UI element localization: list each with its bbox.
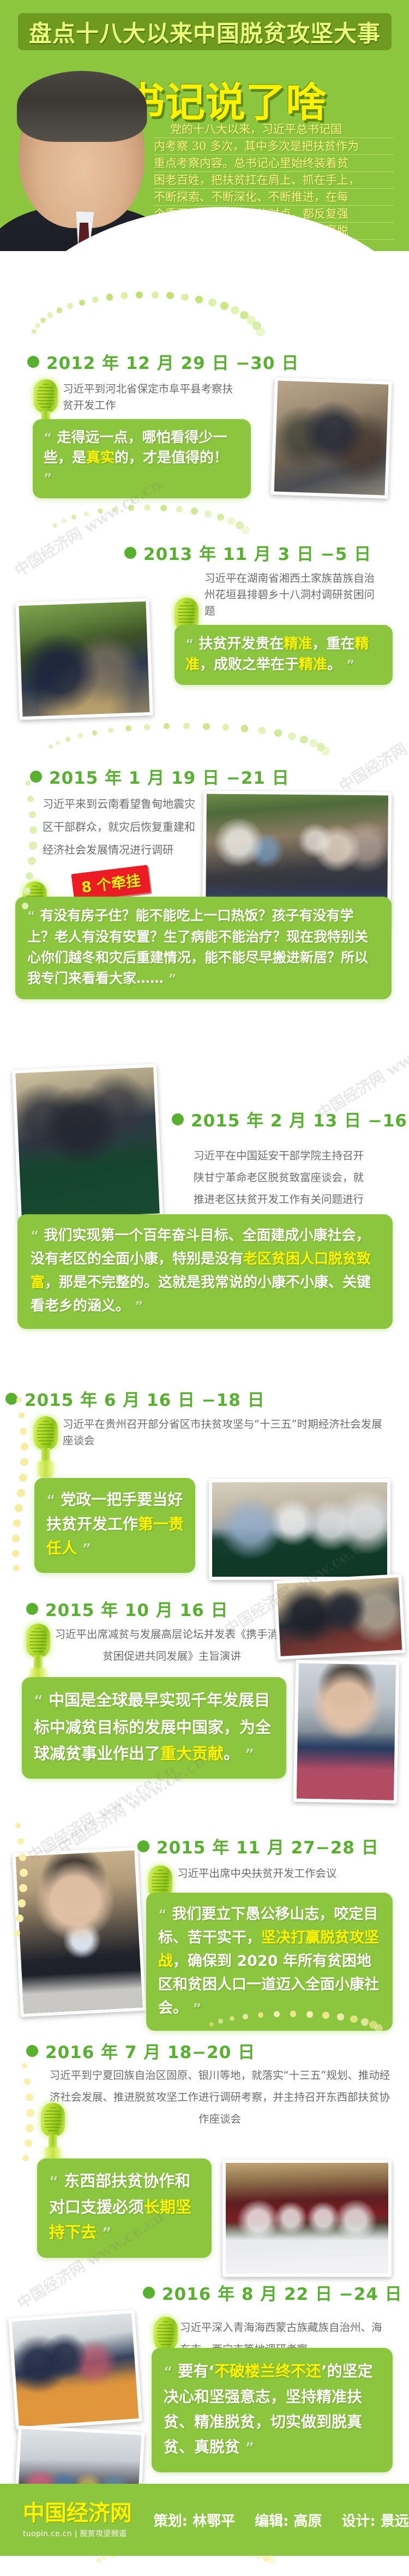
quote-highlight: 不破楼兰终不还 [214,2362,321,2380]
photo-image [297,1663,396,1800]
page-footer: 中国经济网 tuopin.ce.cn | 脱贫攻坚频道 策划: 林鄂平 编辑: … [0,2484,409,2556]
entry-date-row: 2015 年 6 月 16 日 −18 日 [5,1386,265,1411]
entry-description: 习近平到河北省保定市阜平县考察扶贫开发工作 [63,381,243,414]
bullet-icon [27,356,39,368]
quote-highlight: 精准 [284,636,312,652]
photo-image [15,1068,159,1220]
bullet-icon [172,1113,184,1125]
entry-quote: “ 走得远一点，哪怕看得少一些，是真实的，才是值得的！ ” [33,419,251,498]
open-quote-icon: “ [34,1693,43,1709]
close-quote-icon: ” [245,2440,255,2455]
timeline-entry-2015-10: 2015 年 10 月 16 日 习近平出席减贫与发展高层论坛并发表《携手消除贫… [0,1596,409,1826]
open-quote-icon: “ [31,1228,39,1243]
entry-photo [12,1064,163,1223]
entry-description: 习近平到宁夏回族自治区固原、银川等地，就落实“十三五”规划、推动经济社会发展、推… [48,2065,392,2130]
intro-line: 重点考察内容。总书记心里始终装着贫 [154,155,394,172]
entry-date-row: 2016 年 7 月 18−20 日 [26,2038,255,2063]
quote-pre: 扶贫开发贵在 [199,636,284,652]
timeline-entry-2015-06: 2015 年 6 月 16 日 −18 日 习近平在贵州召开部分省区市扶贫攻坚与… [0,1386,409,1577]
quote-highlight: 重大贡献 [160,1744,224,1763]
microphone-icon [26,1624,50,1685]
entry-date-row: 2015 年 11 月 27−28 日 [137,1834,379,1858]
bullet-icon [124,547,136,559]
close-quote-icon: ” [44,470,52,486]
bullet-icon [143,2287,155,2299]
quote-post: 。 [327,657,341,673]
timeline-entry-2016-07: 2016 年 7 月 18−20 日 习近平到宁夏回族自治区固原、银川等地，就落… [0,2038,409,2257]
timeline-entry-2016-08: 2016 年 8 月 22 日 −24 日 习近平深入青海海西蒙古族藏族自治州、… [0,2265,409,2494]
main-title-banner: 盘点十八大以来中国脱贫攻坚大事 [18,13,392,50]
entry-date: 2015 年 1 月 19 日 −21 日 [49,764,290,789]
entry-date: 2013 年 11 月 3 日 −5 日 [143,540,371,565]
close-quote-icon: ” [102,2225,111,2241]
entry-quote: “ 有没有房子住？能不能吃上一口热饭？孩子有没有学上？老人有没有安置？生了病能不… [15,897,392,999]
entry-date: 2015 年 10 月 16 日 [45,1596,228,1621]
entry-quote: “ 我们实现第一个百年奋斗目标、全面建成小康社会，没有老区的全面小康，特别是没有… [17,1214,393,1329]
open-quote-icon: “ [46,1492,56,1508]
photo-image [277,1577,402,1656]
timeline-entry-2015-01: 2015 年 1 月 19 日 −21 日 习近平来到云南看望鲁甸地震灾区干部群… [0,764,409,1048]
credit-planner: 策划: 林鄂平 [154,2510,235,2530]
entry-date: 2015 年 11 月 27−28 日 [157,1834,379,1858]
entry-photo-top [273,1574,405,1660]
quote-text-body: 有没有房子住？能不能吃上一口热饭？孩子有没有学上？老人有没有安置？生了病能不能治… [27,908,368,986]
site-logo-subtitle: tuopin.ce.cn | 脱贫攻坚频道 [23,2528,139,2539]
decorative-dot-column [0,2063,44,2170]
entry-date-row: 2015 年 1 月 19 日 −21 日 [30,764,290,789]
intro-line: 党的十八大以来，习近平总书记国 [154,121,394,138]
entry-photo [270,377,392,498]
photo-image [12,2313,139,2427]
credit-editor: 编辑: 高原 [255,2510,322,2530]
quote-post: 。 [224,1744,239,1763]
entry-quote: “ 要有‘不破楼兰终不还’的坚定决心和坚强意志，坚持精准扶贫、精准脱贫，切实做到… [152,2348,393,2472]
decorative-dot-column [0,780,44,918]
open-quote-icon: “ [185,636,194,652]
entry-date: 2015 年 2 月 13 日 −16 日 [191,1107,409,1131]
quote-post: 的，才是值得的！ [115,450,228,466]
close-quote-icon: ” [82,1541,92,1557]
quote-pre: 要有‘ [178,2362,214,2380]
open-quote-icon: “ [164,2364,173,2380]
bullet-icon [137,1840,149,1852]
entry-photo-top [8,2310,142,2430]
entry-date: 2012 年 12 月 29 日 −30 日 [46,349,299,374]
page-header: 盘点十八大以来中国脱贫攻坚大事 之 总书记说了啥 党的十八大以来，习近平总书记国… [0,0,409,295]
timeline-entry-2012-12: 2012 年 12 月 29 日 −30 日 习近平到河北省保定市阜平县考察扶贫… [0,349,409,513]
quote-post: ，那是不完整的。这就是我常说的小康不小康、关键看老乡的涵义。 [31,1274,371,1314]
entry-description: 习近平在湖南省湘西土家族苗族自治州花垣县排碧乡十八洞村调研贫困问题 [204,570,384,619]
entry-photo-bottom [293,1660,400,1803]
site-logo[interactable]: 中国经济网 tuopin.ce.cn | 脱贫攻坚频道 [23,2501,139,2539]
photo-image [19,601,150,717]
intro-line: 不断探索、不断深化、不断推进，在每 [154,189,394,206]
entry-quote: “ 我们要立下愚公移山志，咬定目标、苦干实干，坚决打赢脱贫攻坚战，确保到 202… [146,1893,393,2031]
entry-quote: “ 扶贫开发贵在精准，重在精准，成败之举在于精准。 ” [175,625,393,685]
microphone-icon [41,2103,65,2164]
photo-image [274,381,389,496]
close-quote-icon: ” [346,657,354,672]
entry-quote: “ 东西部扶贫协作和对口支援必须长期坚持下去 ” [37,2158,212,2258]
site-logo-name: 中国经济网 [23,2501,139,2525]
close-quote-icon: ” [193,2000,201,2016]
entry-date-row: 2016 年 8 月 22 日 −24 日 [143,2280,402,2305]
open-quote-icon: “ [49,2174,58,2190]
entry-date-row: 2015 年 2 月 13 日 −16 日 [172,1107,409,1131]
quote-mid: ，重在 [312,636,354,652]
entry-date: 2016 年 8 月 22 日 −24 日 [162,2280,402,2305]
decorative-dot-column [0,1823,44,1945]
entry-date-row: 2012 年 12 月 29 日 −30 日 [27,349,299,374]
photo-image [226,2163,388,2274]
entry-photo [222,2160,392,2277]
entry-description: 习近平在贵州召开部分省区市扶贫攻坚与“十三五”时期经济社会发展座谈会 [63,1416,390,1449]
quote-highlight: 真实 [86,450,115,466]
open-quote-icon: “ [44,430,52,445]
badge-label: 8 个牵挂 [81,872,142,896]
entry-photo [15,598,153,720]
entry-photo [209,1479,390,1580]
entry-date-row: 2013 年 11 月 3 日 −5 日 [124,540,371,565]
entry-description: 习近平出席中央扶贫开发工作会议 [177,1865,384,1882]
entry-date: 2016 年 7 月 18−20 日 [45,2038,255,2063]
timeline-entry-2013-11: 2013 年 11 月 3 日 −5 日 习近平在湖南省湘西土家族苗族自治州花垣… [0,540,409,720]
bullet-icon [26,1603,38,1615]
intro-line: 困老百姓，把扶贫扛在肩上、抓在手上， [154,172,394,189]
close-quote-icon: ” [245,1746,254,1763]
timeline-entry-2015-02: 2015 年 2 月 13 日 −16 日 习近平在中国延安干部学院主持召开陕甘… [0,1064,409,1348]
page-title: 盘点十八大以来中国脱贫攻坚大事 [29,15,381,49]
bullet-icon [26,2045,38,2057]
credits-row: 策划: 林鄂平 编辑: 高原 设计: 景远 [154,2510,409,2530]
entry-date-row: 2015 年 10 月 16 日 [26,1596,228,1621]
entry-date: 2015 年 6 月 16 日 −18 日 [25,1386,265,1411]
open-quote-icon: “ [158,1906,167,1922]
entry-quote: “ 中国是全球最早实现千年发展目标中减贫目标的发展中国家，为全球减贫事业作出了重… [22,1677,286,1779]
close-quote-icon: ” [169,972,177,986]
quote-mid-2: ，成败之举在于 [200,657,299,673]
entry-quote: “ 党政一把手要当好扶贫开发工作第一责任人 ” [34,1478,195,1573]
entry-description: 习近平出席减贫与发展高层论坛并发表《携手消除贫困促进共同发展》主旨演讲 [55,1624,289,1667]
decorative-dot-column [0,1397,44,1581]
quote-highlight-3: 精准 [299,657,327,673]
close-quote-icon: ” [135,1298,143,1314]
credit-designer: 设计: 景远 [342,2510,409,2530]
intro-line: 内考察 30 多次，其中多次是把扶贫作为 [154,138,394,155]
quote-post: ，确保到 2020 年所有贫困地区和贫困人口一道迈入全面小康社会。 [158,1953,379,2017]
photo-image [212,1482,387,1577]
entry-description: 习近平来到云南看望鲁甸地震灾区干部群众，就灾后恢复重建和经济社会发展情况进行调研 [43,792,201,861]
